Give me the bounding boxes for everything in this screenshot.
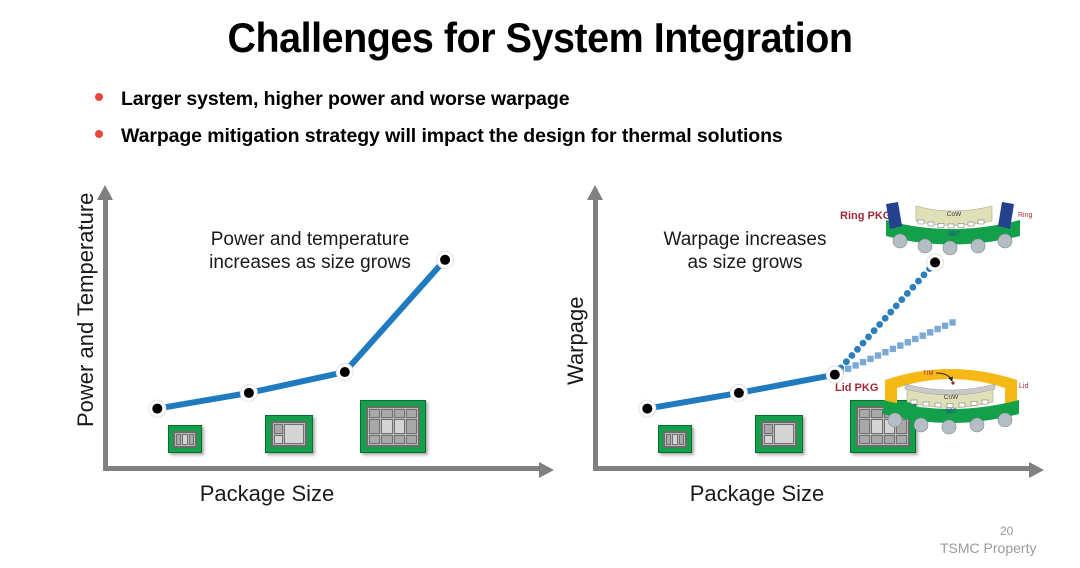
substrate-label: SBT bbox=[948, 232, 960, 238]
series-dash bbox=[949, 319, 955, 325]
tim-label: TIM bbox=[923, 371, 933, 377]
substrate-label: SBT bbox=[945, 409, 957, 415]
cow-label: CoW bbox=[944, 394, 959, 401]
data-point-marker bbox=[642, 404, 652, 414]
series-dash bbox=[890, 346, 896, 352]
series-dot bbox=[910, 284, 917, 291]
series-dot bbox=[898, 296, 905, 303]
footer-property-text: TSMC Property bbox=[940, 540, 1036, 556]
data-point-marker bbox=[152, 404, 162, 414]
data-point-marker bbox=[440, 255, 450, 265]
page-title: Challenges for System Integration bbox=[32, 14, 1047, 62]
series-dot bbox=[893, 302, 900, 309]
series-dot bbox=[876, 321, 883, 328]
series-dash bbox=[912, 336, 918, 342]
data-point-marker bbox=[340, 367, 350, 377]
bullet-text: Larger system, higher power and worse wa… bbox=[121, 88, 569, 111]
chart-power-temperature: Power and Temperature Package Size Power… bbox=[55, 185, 555, 510]
slide-canvas: Challenges for System Integration Larger… bbox=[0, 0, 1080, 568]
series-dot bbox=[887, 309, 894, 316]
series-line bbox=[345, 260, 445, 372]
series-dot bbox=[871, 327, 878, 334]
series-dot bbox=[865, 333, 872, 340]
bullet-item: Warpage mitigation strategy will impact … bbox=[95, 125, 783, 148]
series-dot bbox=[860, 340, 867, 347]
series-dash bbox=[927, 329, 933, 335]
ring-package-diagram: Ring PKG CoW SBT Rin bbox=[840, 196, 1035, 268]
series-dot bbox=[882, 315, 889, 322]
series-dash bbox=[882, 349, 888, 355]
series-dash bbox=[942, 323, 948, 329]
series-dash bbox=[934, 326, 940, 332]
bullet-dot-icon bbox=[95, 130, 103, 138]
chart-plot-area bbox=[55, 185, 555, 510]
bullet-item: Larger system, higher power and worse wa… bbox=[95, 88, 569, 111]
tim-pointer-dot bbox=[951, 381, 954, 384]
bullet-text: Warpage mitigation strategy will impact … bbox=[121, 125, 783, 148]
series-dot bbox=[921, 271, 928, 278]
series-dot bbox=[904, 290, 911, 297]
series-line bbox=[647, 393, 739, 409]
ring-part-label: Ring bbox=[1018, 212, 1032, 219]
series-line bbox=[157, 393, 249, 409]
series-dot bbox=[915, 278, 922, 285]
cow-label: CoW bbox=[947, 211, 962, 218]
page-number: 20 bbox=[1000, 524, 1013, 538]
data-point-marker bbox=[734, 388, 744, 398]
series-dash bbox=[919, 332, 925, 338]
series-line bbox=[739, 375, 835, 393]
series-dot bbox=[854, 346, 861, 353]
lid-part-label: Lid bbox=[1019, 383, 1028, 390]
series-dash bbox=[897, 342, 903, 348]
series-dash bbox=[905, 339, 911, 345]
bullet-dot-icon bbox=[95, 93, 103, 101]
series-line bbox=[249, 372, 345, 393]
lid-package-diagram: Lid PKG TIM CoW SBT bbox=[835, 358, 1035, 438]
data-point-marker bbox=[244, 388, 254, 398]
